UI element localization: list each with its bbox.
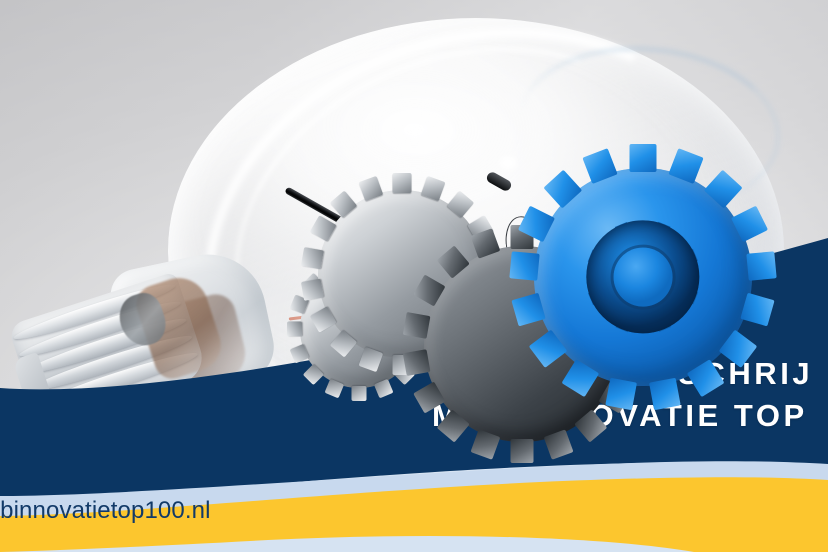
website-url[interactable]: kbinnovatietop100.nl [0, 497, 211, 525]
gear-tooth [605, 378, 637, 410]
gear-tooth [511, 439, 534, 463]
gear-tooth [393, 173, 412, 193]
glass-highlight-dot-small [499, 156, 517, 170]
gear-tooth [649, 378, 681, 410]
gear-blue [534, 168, 752, 386]
lightbulb-illustration [0, 0, 828, 552]
screw-base [8, 271, 209, 428]
gear-tooth [746, 251, 776, 280]
banner-image: INSCHRIJ MKB INNOVATIE TOP kbinnovatieto… [0, 0, 828, 552]
gear-tooth [301, 247, 324, 269]
gear-tooth [509, 251, 539, 280]
gear-tooth [630, 144, 657, 172]
gear-tooth [403, 349, 431, 376]
gear-tooth [301, 279, 324, 301]
gear-tooth [287, 322, 302, 337]
gear-tooth [403, 312, 431, 339]
gear-tooth [352, 386, 367, 401]
gear-blue-hub-inner [614, 248, 673, 307]
